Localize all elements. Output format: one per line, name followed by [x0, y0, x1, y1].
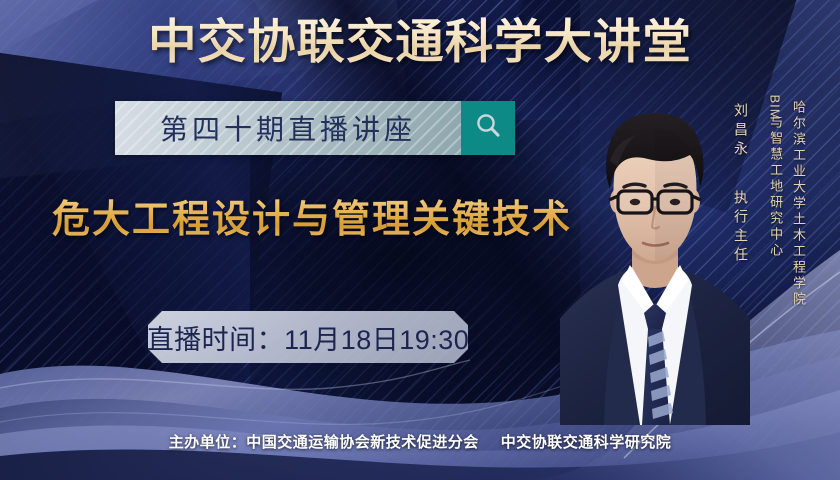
- footer-organizers: 主办单位：中国交通运输协会新技术促进分会中交协联交通科学研究院: [0, 431, 840, 452]
- search-icon: [473, 111, 503, 146]
- broadcast-time-banner: 直播时间：11月18日19:30: [148, 311, 468, 363]
- affiliation-bim-acronym: BIM: [768, 94, 783, 120]
- affiliation-line-2-rest: 与智慧工地研究中心: [768, 115, 783, 259]
- broadcast-time-text: 直播时间：11月18日19:30: [147, 318, 470, 357]
- lecture-topic: 危大工程设计与管理关键技术: [52, 188, 572, 243]
- speaker-portrait: [560, 95, 750, 425]
- speaker-affiliation-line-2: BIM与智慧工地研究中心: [762, 100, 788, 259]
- webinar-poster: 中交协联交通科学大讲堂 第四十期直播讲座 危大工程设计与管理关键技术 直播时间：…: [0, 0, 840, 480]
- footer-prefix: 主办单位：: [169, 434, 247, 451]
- footer-organizer-2: 中交协联交通科学研究院: [501, 434, 672, 451]
- speaker-name: 刘昌永: [731, 103, 751, 160]
- episode-label-box: 第四十期直播讲座: [115, 101, 461, 155]
- episode-bar: 第四十期直播讲座: [115, 101, 515, 155]
- speaker-role: 执行主任: [731, 190, 751, 266]
- footer-organizer-1: 中国交通运输协会新技术促进分会: [246, 434, 479, 451]
- main-title: 中交协联交通科学大讲堂: [0, 14, 840, 69]
- episode-label: 第四十期直播讲座: [160, 108, 416, 148]
- speaker-affiliation-line-1: 哈尔滨工业大学土木工程学院: [789, 100, 808, 308]
- search-button[interactable]: [461, 101, 515, 155]
